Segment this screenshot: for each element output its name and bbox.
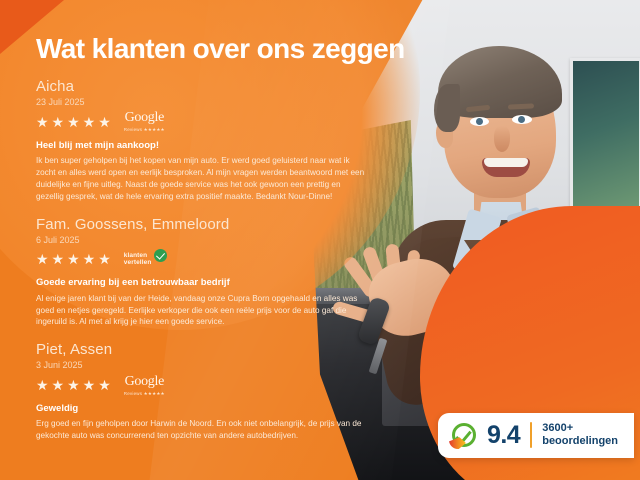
review-date: 6 Juli 2025 [36,235,400,246]
review-title: Geweldig [36,403,400,415]
check-circle-icon [154,249,167,262]
klantenvertellen-line2: vertellen [124,259,152,266]
klantenvertellen-line1: klanten [124,252,152,259]
testimonials-banner: VDH VDH [0,0,640,480]
rating-count-block: 3600+ beoordelingen [542,422,618,450]
review-date: 23 Juli 2025 [36,97,400,108]
teeth [484,158,528,167]
google-reviews-badge[interactable]: Google Reviews ★★★★★ [124,110,165,133]
klantenvertellen-wordmark: klanten vertellen [124,252,152,267]
review-body: Al enige jaren klant bij van der Heide, … [36,293,366,329]
rating-count-label: beoordelingen [542,435,618,449]
review-card: Aicha 23 Juli 2025 ★★★★★ Google Reviews … [36,78,400,203]
review-meta: ★★★★★ Google Reviews ★★★★★ [36,375,400,395]
review-card: Piet, Assen 3 Juni 2025 ★★★★★ Google Rev… [36,341,400,442]
review-title: Heel blij met mijn aankoop! [36,140,400,152]
nose [494,126,510,152]
review-card: Fam. Goossens, Emmeloord 6 Juli 2025 ★★★… [36,216,400,329]
badge-divider [530,422,532,448]
star-rating: ★★★★★ [36,115,114,129]
page-title: Wat klanten over ons zeggen [36,0,400,65]
pupil-right [518,116,525,123]
google-wordmark: Google [125,374,164,390]
reviewer-name: Aicha [36,78,400,96]
klantenvertellen-logo-icon [451,422,477,448]
google-reviews-badge[interactable]: Google Reviews ★★★★★ [124,374,165,397]
overall-rating-badge[interactable]: 9.4 3600+ beoordelingen [438,413,634,459]
review-date: 3 Juni 2025 [36,360,400,371]
rating-count: 3600+ [542,422,618,436]
google-reviews-subtext: Reviews ★★★★★ [124,127,165,133]
klantenvertellen-badge[interactable]: klanten vertellen [124,252,168,267]
google-wordmark: Google [125,110,164,126]
pupil-left [476,118,483,125]
rating-score: 9.4 [487,423,520,448]
reviewer-name: Fam. Goossens, Emmeloord [36,216,400,234]
review-body: Ik ben super geholpen bij het kopen van … [36,155,366,203]
review-meta: ★★★★★ Google Reviews ★★★★★ [36,112,400,132]
google-reviews-subtext: Reviews ★★★★★ [124,391,165,397]
review-title: Goede ervaring bij een betrouwbaar bedri… [36,277,400,289]
star-rating: ★★★★★ [36,252,114,266]
review-meta: ★★★★★ klanten vertellen [36,249,400,269]
star-rating: ★★★★★ [36,378,114,392]
mouth [482,158,530,177]
reviewer-name: Piet, Assen [36,341,400,359]
testimonials-content: Wat klanten over ons zeggen Aicha 23 Jul… [0,0,400,480]
review-body: Erg goed en fijn geholpen door Harwin de… [36,418,366,442]
